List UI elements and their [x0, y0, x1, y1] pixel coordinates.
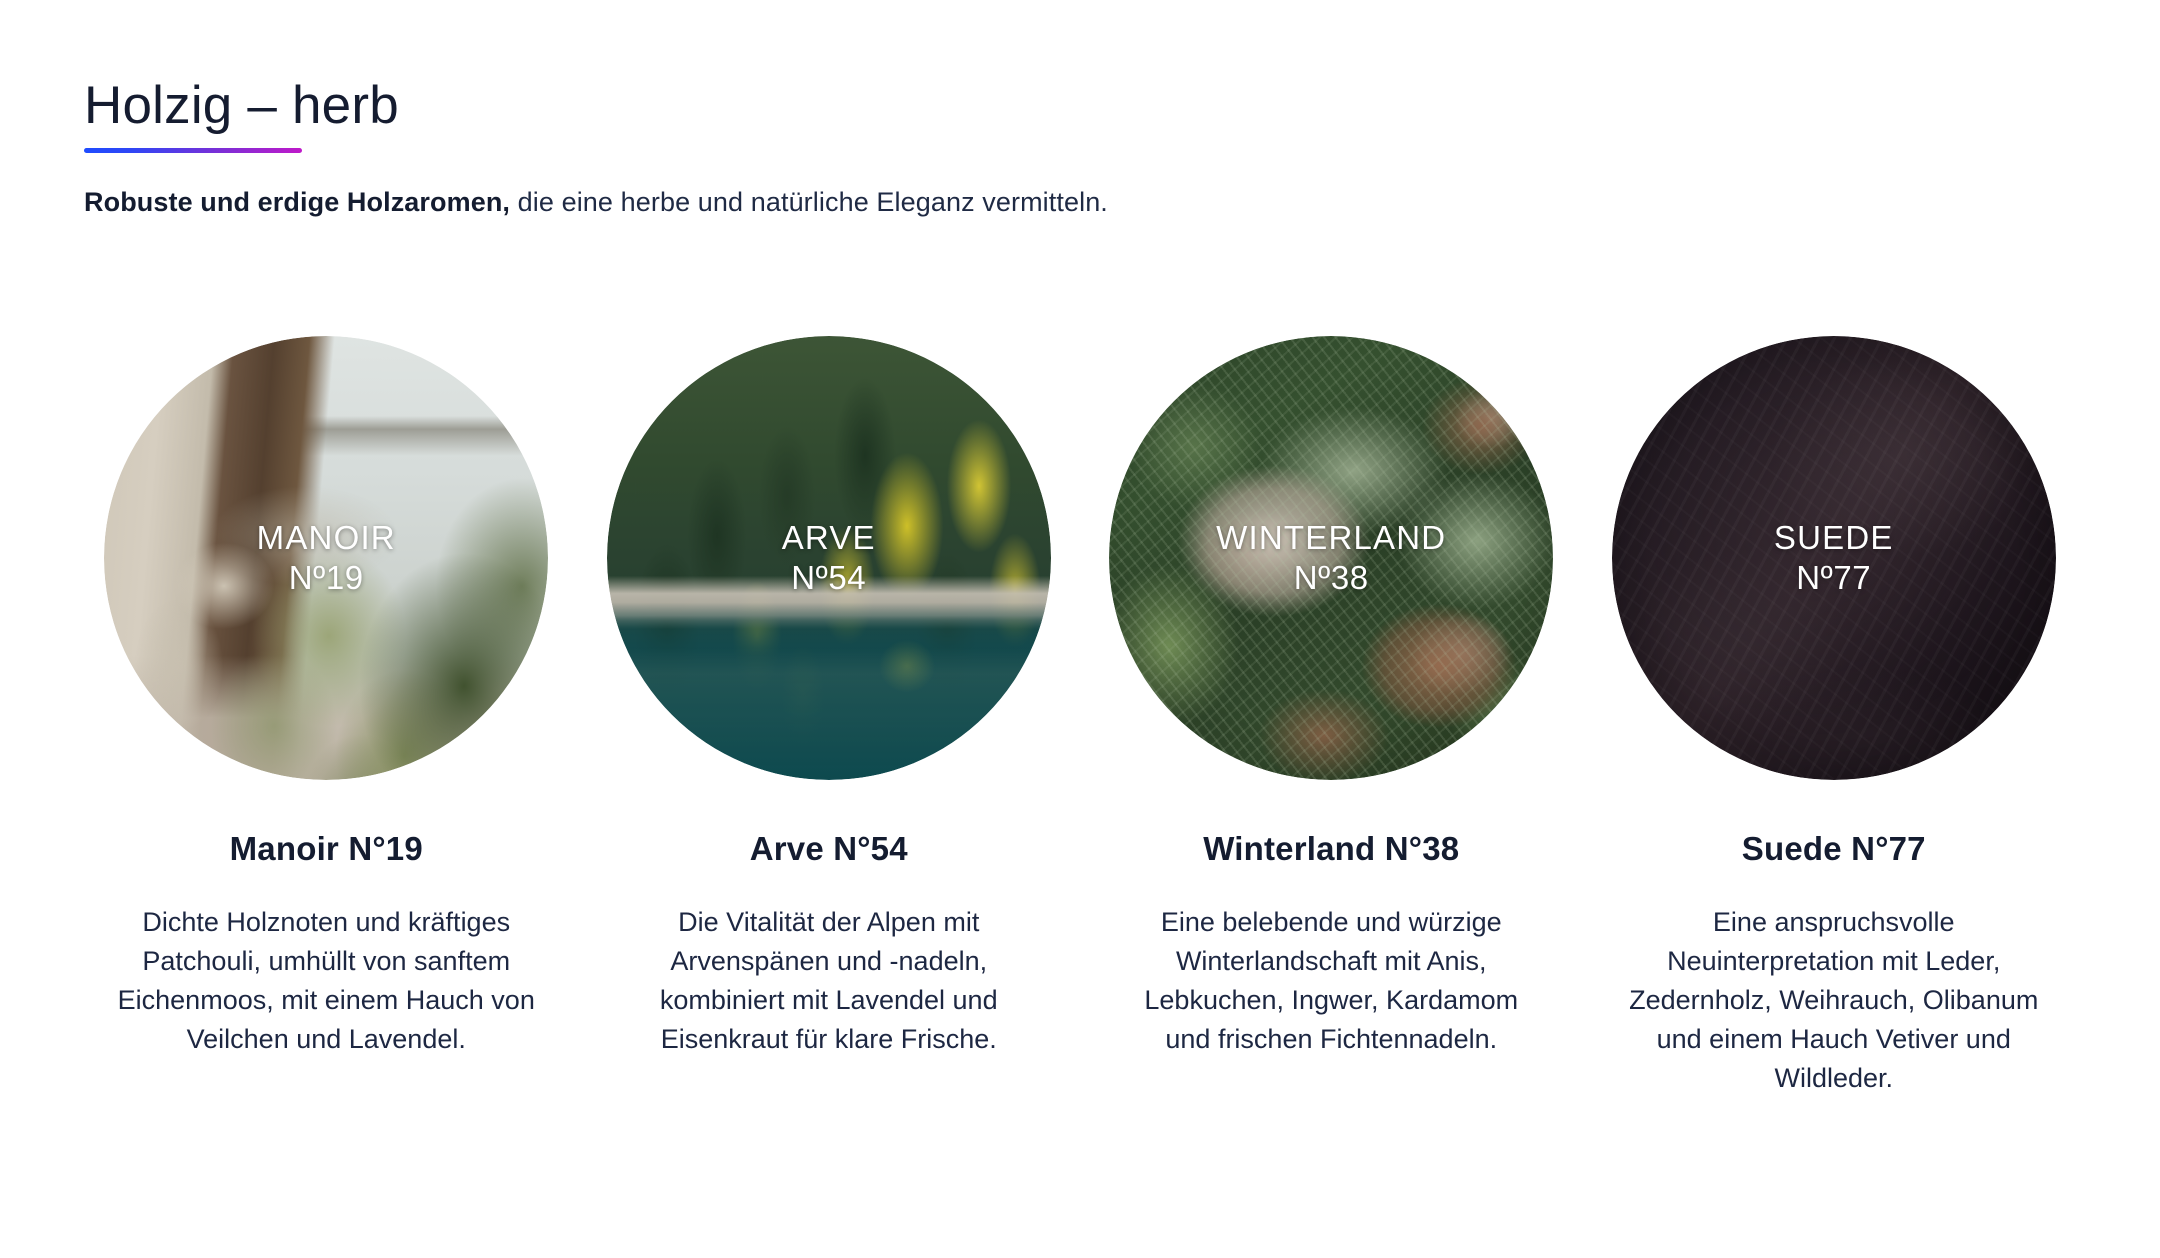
product-photo	[104, 336, 548, 780]
product-card[interactable]: SUEDE Nº77 Suede N°77 Eine anspruchsvoll…	[1592, 336, 2077, 1097]
product-image-suede[interactable]: SUEDE Nº77	[1612, 336, 2056, 780]
product-photo	[607, 336, 1051, 780]
product-description: Die Vitalität der Alpen mit Arvenspänen …	[619, 903, 1039, 1059]
product-image-manoir[interactable]: MANOIR Nº19	[104, 336, 548, 780]
product-card-grid: MANOIR Nº19 Manoir N°19 Dichte Holznoten…	[84, 336, 2076, 1097]
product-photo	[1612, 336, 2056, 780]
subtitle-rest: die eine herbe und natürliche Eleganz ve…	[510, 187, 1108, 217]
page-header: Holzig – herb Robuste und erdige Holzaro…	[84, 78, 2044, 220]
product-card[interactable]: ARVE Nº54 Arve N°54 Die Vitalität der Al…	[587, 336, 1072, 1097]
page-subtitle: Robuste und erdige Holzaromen, die eine …	[84, 184, 2044, 220]
product-name: Arve N°54	[750, 830, 908, 868]
product-name: Suede N°77	[1742, 830, 1926, 868]
product-card[interactable]: MANOIR Nº19 Manoir N°19 Dichte Holznoten…	[84, 336, 569, 1097]
product-photo	[1109, 336, 1553, 780]
product-name: Manoir N°19	[230, 830, 423, 868]
product-description: Dichte Holznoten und kräftiges Patchouli…	[116, 903, 536, 1059]
title-gradient-underline	[84, 148, 302, 153]
product-image-winterland[interactable]: WINTERLAND Nº38	[1109, 336, 1553, 780]
subtitle-lead: Robuste und erdige Holzaromen,	[84, 187, 510, 217]
product-description: Eine anspruchsvolle Neuinterpretation mi…	[1624, 903, 2044, 1097]
product-name: Winterland N°38	[1203, 830, 1459, 868]
product-description: Eine belebende und würzige Winterlandsch…	[1121, 903, 1541, 1059]
product-image-arve[interactable]: ARVE Nº54	[607, 336, 1051, 780]
product-card[interactable]: WINTERLAND Nº38 Winterland N°38 Eine bel…	[1089, 336, 1574, 1097]
fragrance-family-page: Holzig – herb Robuste und erdige Holzaro…	[0, 0, 2160, 1258]
page-title: Holzig – herb	[84, 78, 399, 134]
